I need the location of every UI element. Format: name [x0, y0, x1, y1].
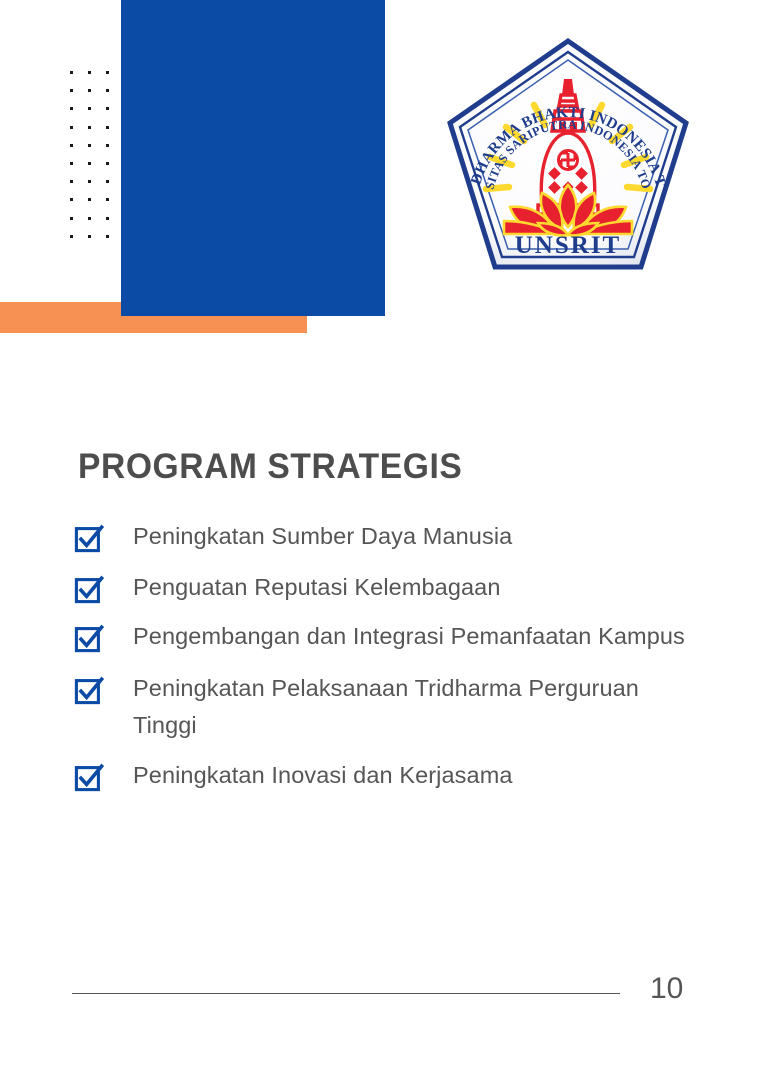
unsrit-logo: YAYASAN DHARMA BHAKTI INDONESIA TOMOHON …: [438, 35, 698, 285]
dot-grid-dot: [106, 126, 109, 129]
blue-rectangle: [121, 0, 385, 316]
dot-grid-dot: [70, 107, 73, 110]
checklist-item-label: Penguatan Reputasi Kelembagaan: [133, 569, 501, 606]
dot-grid-dot: [106, 89, 109, 92]
dot-grid-dot: [88, 126, 91, 129]
dot-grid-dot: [88, 71, 91, 74]
dot-grid-dot: [106, 144, 109, 147]
checklist-item[interactable]: Peningkatan Pelaksanaan Tridharma Pergur…: [74, 670, 704, 744]
checklist-item[interactable]: Peningkatan Sumber Daya Manusia: [74, 518, 704, 555]
checklist-item[interactable]: Penguatan Reputasi Kelembagaan: [74, 569, 704, 606]
dot-grid-dot: [106, 180, 109, 183]
dot-grid-dot: [88, 162, 91, 165]
dot-grid-dot: [106, 162, 109, 165]
dot-grid-dot: [70, 89, 73, 92]
dot-grid-dot: [70, 180, 73, 183]
dot-grid-dot: [106, 71, 109, 74]
dot-grid-dot: [70, 235, 73, 238]
checkbox-checked-icon[interactable]: [74, 524, 104, 554]
dot-grid-dot: [70, 162, 73, 165]
page-number: 10: [650, 972, 710, 1006]
checklist-item[interactable]: Peningkatan Inovasi dan Kerjasama: [74, 757, 704, 794]
dot-grid-dot: [88, 217, 91, 220]
strategic-program-list: Peningkatan Sumber Daya ManusiaPenguatan…: [74, 518, 704, 806]
dot-grid-dot: [70, 144, 73, 147]
dot-grid-dot: [88, 144, 91, 147]
checklist-item-label: Pengembangan dan Integrasi Pemanfaatan K…: [133, 618, 685, 655]
dot-grid-dot: [88, 235, 91, 238]
dot-grid-dot: [106, 217, 109, 220]
dot-grid-dot: [70, 198, 73, 201]
dot-grid-dot: [106, 235, 109, 238]
dot-grid-dot: [70, 217, 73, 220]
checkbox-checked-icon[interactable]: [74, 763, 104, 793]
dot-grid-dot: [106, 107, 109, 110]
dot-grid-dot: [88, 180, 91, 183]
checklist-item-label: Peningkatan Pelaksanaan Tridharma Pergur…: [133, 670, 693, 744]
slide-canvas: YAYASAN DHARMA BHAKTI INDONESIA TOMOHON …: [0, 0, 768, 1086]
dharma-symbol: [559, 151, 578, 170]
dot-grid-dot: [106, 198, 109, 201]
checklist-item[interactable]: Pengembangan dan Integrasi Pemanfaatan K…: [74, 618, 704, 655]
logo-acronym-text: UNSRIT: [515, 232, 621, 259]
dot-grid-dot: [70, 126, 73, 129]
dot-grid-dot: [70, 71, 73, 74]
checkbox-checked-icon[interactable]: [74, 676, 104, 706]
dot-grid-dot: [88, 107, 91, 110]
dot-grid-dot: [88, 89, 91, 92]
footer-divider: [72, 993, 620, 994]
dot-grid-dot: [88, 198, 91, 201]
page-title: PROGRAM STRATEGIS: [78, 447, 462, 487]
checklist-item-label: Peningkatan Sumber Daya Manusia: [133, 518, 512, 555]
checkbox-checked-icon[interactable]: [74, 575, 104, 605]
checklist-item-label: Peningkatan Inovasi dan Kerjasama: [133, 757, 513, 794]
checkbox-checked-icon[interactable]: [74, 624, 104, 654]
dot-grid-pattern: [70, 71, 120, 251]
